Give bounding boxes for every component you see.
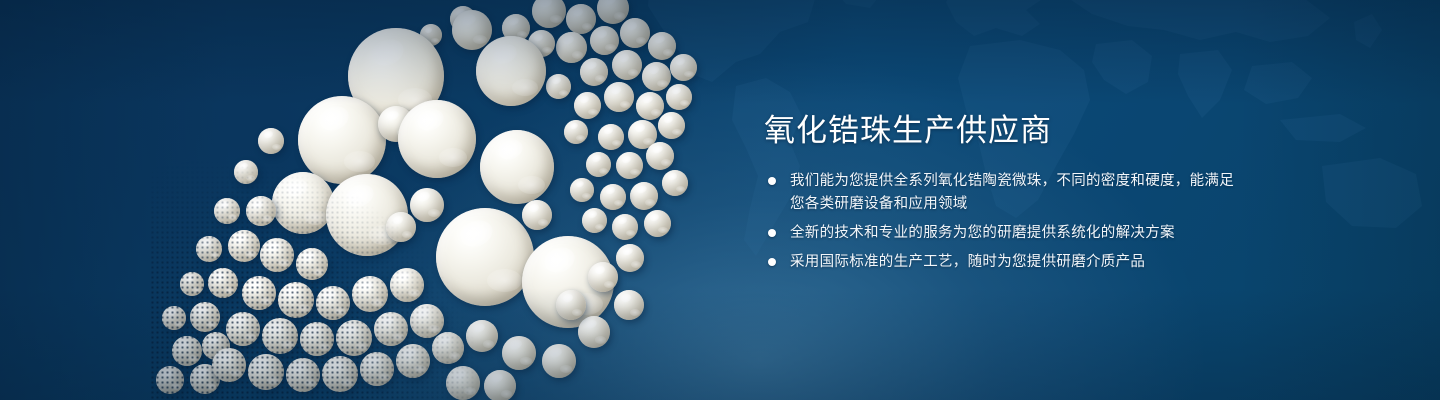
bullet-text: 我们能为您提供全系列氧化锆陶瓷微珠，不同的密度和硬度，能满足您各类研磨设备和应用… [790,170,1234,216]
bullet-dot-icon [768,177,776,185]
bead-cluster [150,0,710,400]
hero-banner: 氧化锆珠生产供应商 我们能为您提供全系列氧化锆陶瓷微珠，不同的密度和硬度，能满足… [0,0,1440,400]
list-item: 全新的技术和专业的服务为您的研磨提供系统化的解决方案 [764,222,1234,245]
product-photo-beads [150,0,710,400]
banner-bullet-list: 我们能为您提供全系列氧化锆陶瓷微珠，不同的密度和硬度，能满足您各类研磨设备和应用… [764,170,1234,280]
bullet-dot-icon [768,229,776,237]
bullet-text: 采用国际标准的生产工艺，随时为您提供研磨介质产品 [790,251,1234,274]
bullet-text: 全新的技术和专业的服务为您的研磨提供系统化的解决方案 [790,222,1234,245]
list-item: 我们能为您提供全系列氧化锆陶瓷微珠，不同的密度和硬度，能满足您各类研磨设备和应用… [764,170,1234,216]
list-item: 采用国际标准的生产工艺，随时为您提供研磨介质产品 [764,251,1234,274]
bullet-dot-icon [768,258,776,266]
banner-headline: 氧化锆珠生产供应商 [764,112,1052,150]
